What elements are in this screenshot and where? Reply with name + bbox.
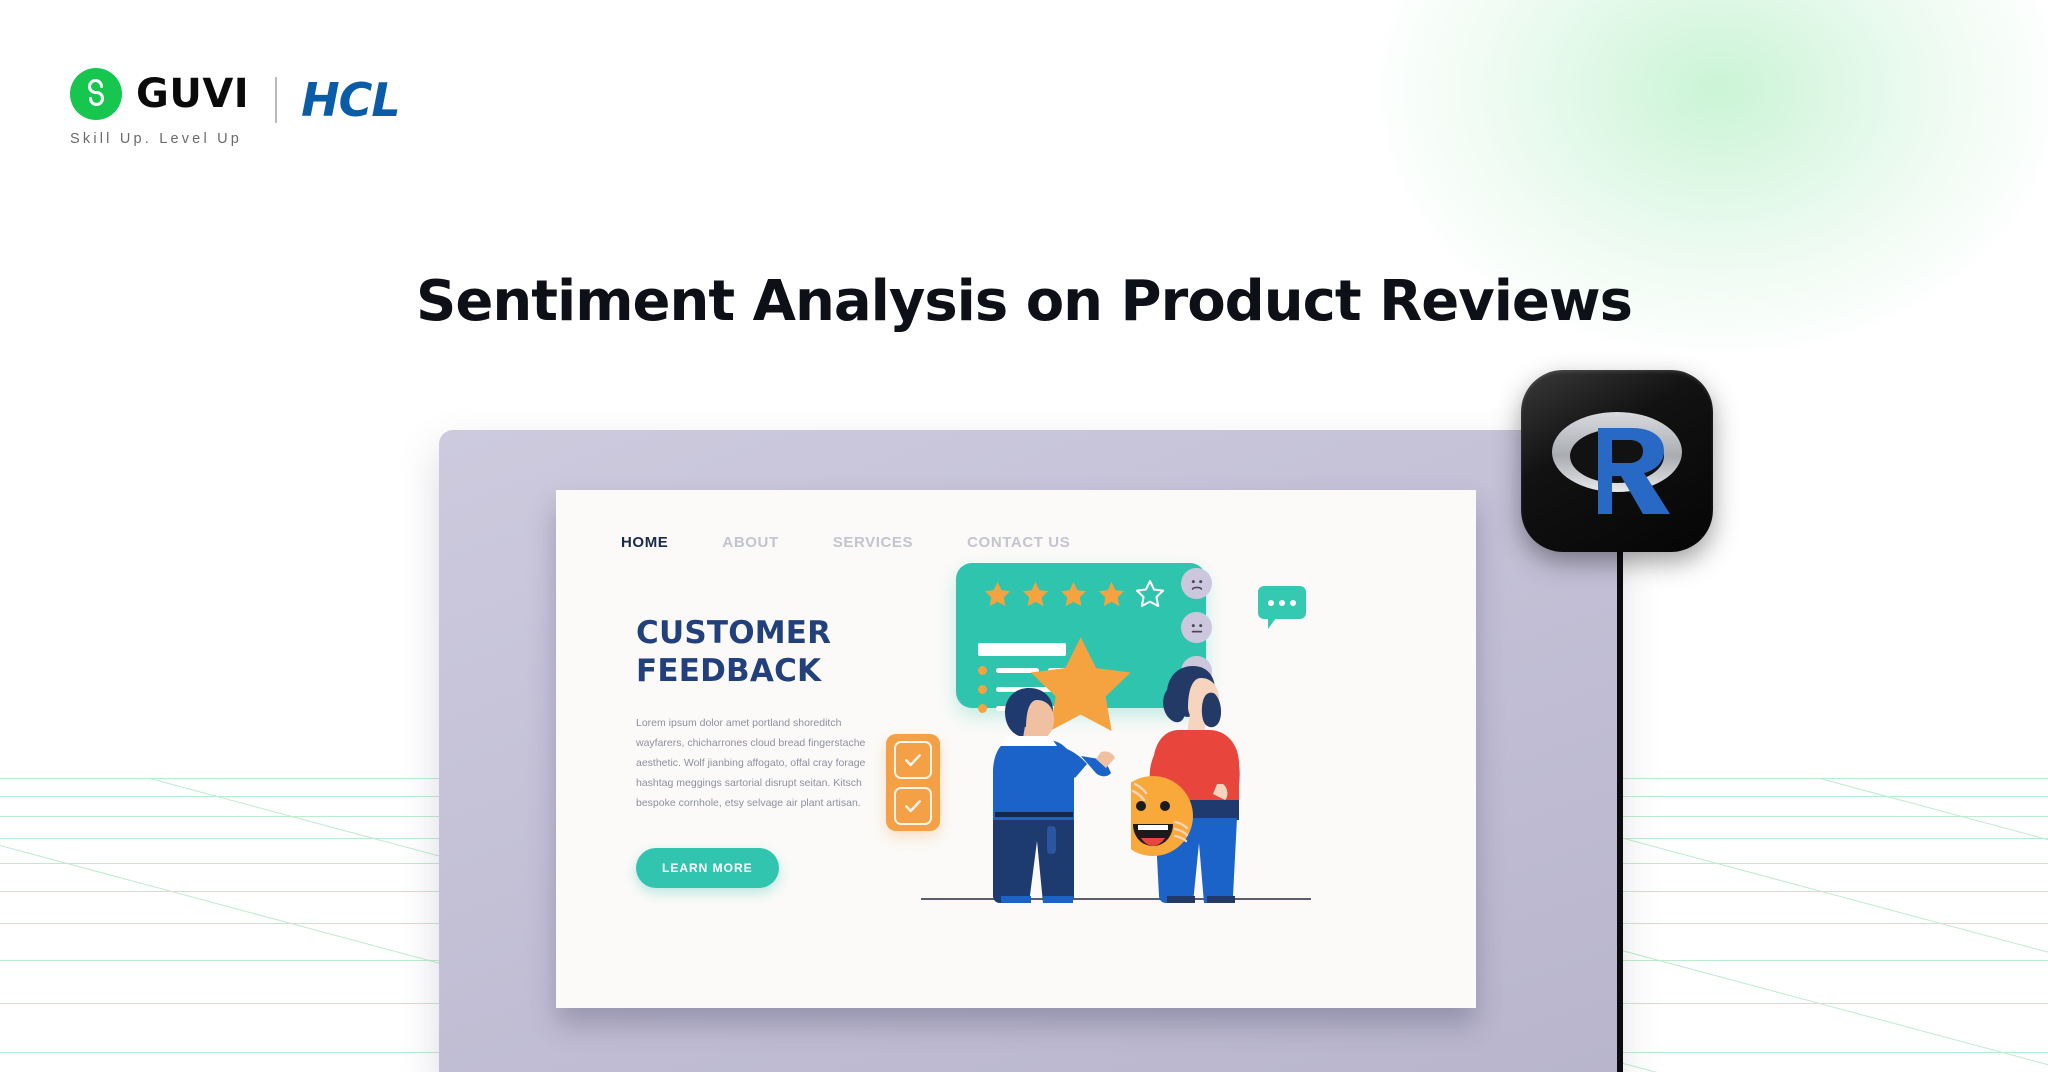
- checkmark-icon: [903, 750, 923, 770]
- star-filled-icon: [982, 580, 1013, 610]
- hero-text-column: CUSTOMER FEEDBACK Lorem ipsum dolor amet…: [636, 615, 926, 888]
- r-language-logo-icon: [1521, 370, 1713, 552]
- star-rating: [982, 579, 1166, 610]
- star-filled-icon: [1020, 580, 1051, 610]
- guvi-tagline: Skill Up. Level Up: [70, 131, 249, 147]
- nav-item-about[interactable]: ABOUT: [722, 534, 778, 551]
- checklist-card: [886, 734, 940, 831]
- learn-more-button[interactable]: LEARN MORE: [636, 848, 779, 888]
- nav-item-home[interactable]: HOME: [621, 534, 668, 551]
- guvi-logo-lockup: GUVI Skill Up. Level Up: [70, 68, 249, 147]
- star-filled-icon: [1058, 580, 1089, 610]
- laptop-mockup: HOME ABOUT SERVICES CONTACT US CUSTOMER …: [439, 430, 1619, 1072]
- man-placing-star-illustration: [951, 628, 1136, 903]
- hcl-wordmark: HCL: [301, 73, 400, 127]
- checkbox-checked[interactable]: [894, 787, 932, 825]
- hero-body-text: Lorem ipsum dolor amet portland shoredit…: [636, 713, 886, 814]
- page-title: Sentiment Analysis on Product Reviews: [0, 269, 2048, 334]
- star-outline-icon: [1134, 579, 1166, 610]
- guvi-g-mark-icon: [70, 68, 122, 120]
- nav-item-services[interactable]: SERVICES: [833, 534, 913, 551]
- nav-item-contact-us[interactable]: CONTACT US: [967, 534, 1070, 551]
- laptop-screen: HOME ABOUT SERVICES CONTACT US CUSTOMER …: [556, 490, 1476, 1008]
- guvi-wordmark: GUVI: [136, 74, 249, 114]
- hero-heading-line2: FEEDBACK: [636, 653, 926, 691]
- bubble-dot: [1290, 600, 1296, 606]
- hero-heading-line1: CUSTOMER: [636, 615, 926, 653]
- r-badge-stem: [1617, 520, 1623, 1072]
- brand-divider: [275, 77, 277, 123]
- chat-bubble-icon: [1258, 586, 1306, 619]
- website-nav: HOME ABOUT SERVICES CONTACT US: [621, 534, 1070, 551]
- bubble-dot: [1279, 600, 1285, 606]
- bubble-dot: [1268, 600, 1274, 606]
- woman-holding-emoji-illustration: [1131, 638, 1281, 903]
- checkmark-icon: [903, 796, 923, 816]
- hero-heading: CUSTOMER FEEDBACK: [636, 615, 926, 691]
- checkbox-checked[interactable]: [894, 741, 932, 779]
- brand-bar: GUVI Skill Up. Level Up HCL: [70, 68, 400, 147]
- star-filled-icon: [1096, 580, 1127, 610]
- chat-bubble-tail: [1268, 618, 1276, 629]
- sad-face-icon[interactable]: [1181, 568, 1212, 599]
